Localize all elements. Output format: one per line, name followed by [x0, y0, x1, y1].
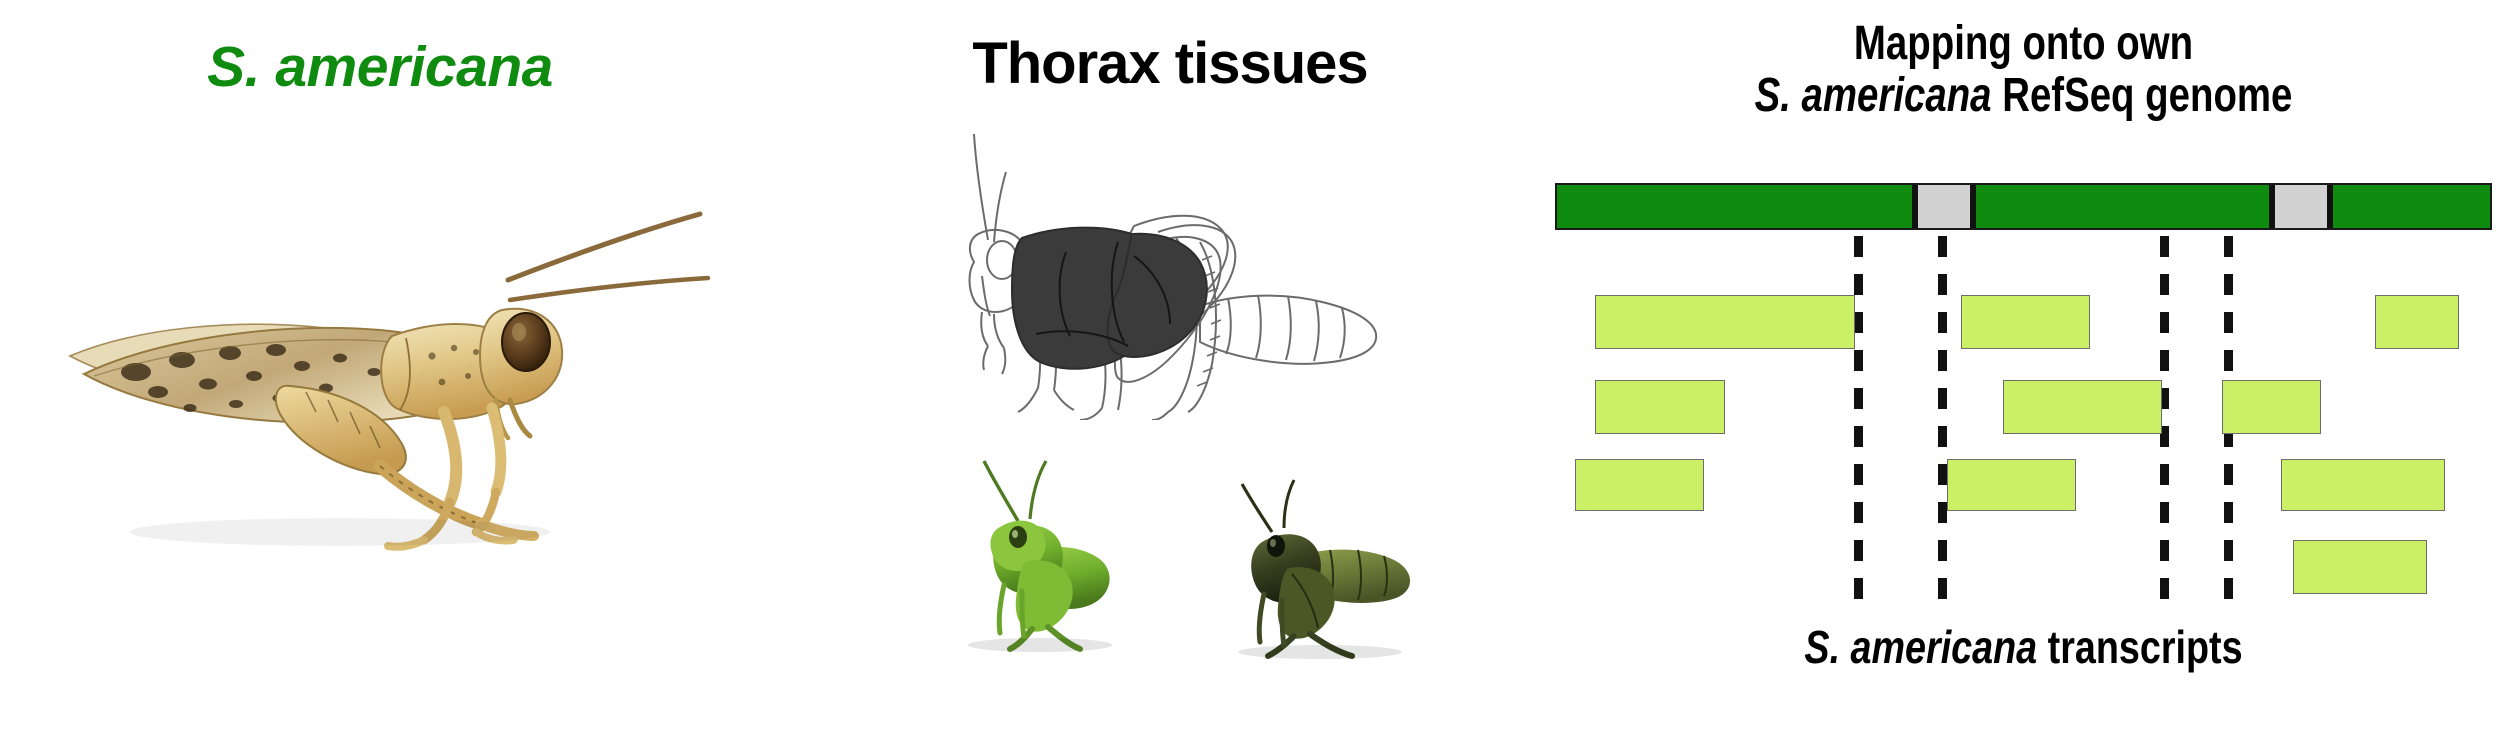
grasshopper-nymph-dark-photo: [1180, 470, 1440, 660]
mapping-heading-rest: RefSeq genome: [2002, 69, 2292, 122]
transcript-block-r3-2: [1947, 459, 2076, 511]
genome-gap-segment: [1918, 185, 1970, 228]
transcripts-caption-species: S. americana: [1804, 621, 2037, 673]
transcript-block-r1-3: [2375, 295, 2459, 349]
transcript-block-r3-3: [2281, 459, 2445, 511]
dashed-guide-line-2: [1938, 236, 1947, 600]
dashed-guide-line-1: [1854, 236, 1863, 600]
thorax-shaded-region: [1012, 228, 1207, 369]
genome-green-segment: [2333, 185, 2488, 228]
transcript-block-r2-3: [2222, 380, 2321, 434]
transcript-block-r1-2: [1961, 295, 2090, 349]
transcript-block-r2-1: [1595, 380, 1724, 434]
transcript-block-r1-1: [1595, 295, 1855, 349]
mapping-heading-line-2: S. americana RefSeq genome: [1637, 68, 2411, 123]
panel-thorax-tissues: Thorax tissues: [800, 0, 1540, 737]
genome-green-segment: [1557, 185, 1912, 228]
panel-species-photo: S. americana: [0, 0, 800, 737]
transcript-block-r4-1: [2293, 540, 2427, 594]
genome-reference-bar: [1555, 183, 2492, 230]
thorax-tissues-heading: Thorax tissues: [800, 30, 1540, 97]
transcript-block-r3-1: [1575, 459, 1704, 511]
panel-genome-mapping: Mapping onto own S. americana RefSeq gen…: [1540, 0, 2507, 737]
mapping-heading-species: S. americana: [1755, 69, 1992, 122]
transcripts-caption: S. americana transcripts: [1627, 620, 2420, 674]
grasshopper-nymph-green-photo: [900, 455, 1160, 655]
figure-canvas: S. americana: [0, 0, 2507, 737]
transcript-block-r2-2: [2003, 380, 2162, 434]
mapping-heading-line-1: Mapping onto own: [1637, 16, 2411, 71]
genome-green-segment: [1976, 185, 2269, 228]
grasshopper-line-drawing: [870, 120, 1490, 420]
grasshopper-adult-photo: [40, 160, 760, 560]
transcripts-caption-rest: transcripts: [2048, 621, 2243, 673]
species-name-label: S. americana: [0, 34, 760, 100]
genome-gap-segment: [2275, 185, 2327, 228]
